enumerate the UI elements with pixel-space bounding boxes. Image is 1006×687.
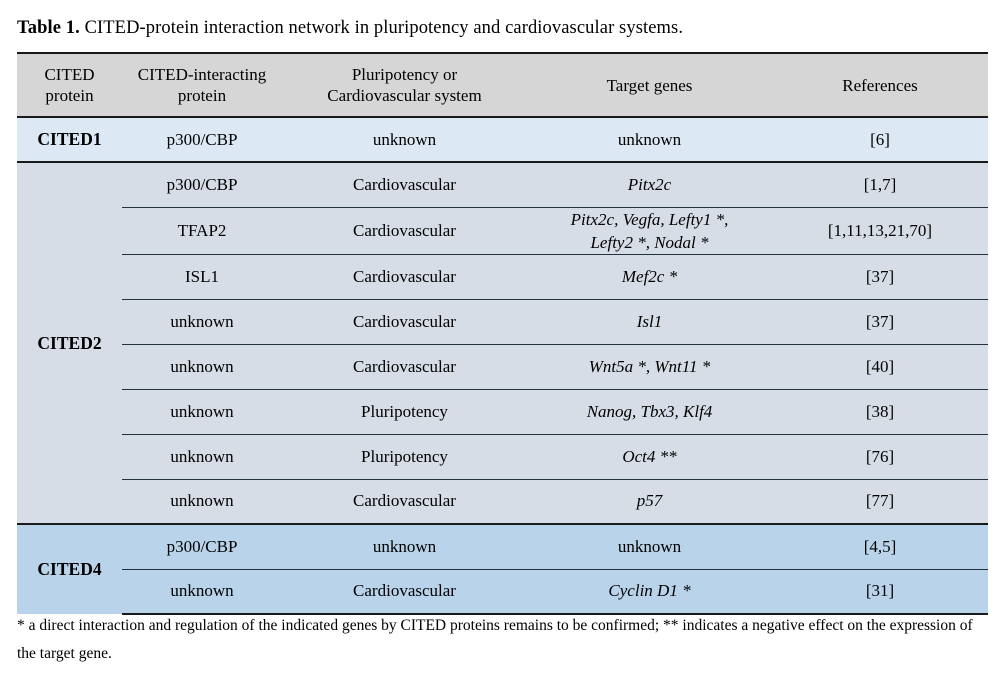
cell-references: [40] — [772, 344, 988, 389]
cell-interacting-protein: unknown — [122, 299, 282, 344]
header-line-1: Target genes — [607, 76, 693, 95]
table-header: CITED protein CITED-interacting protein … — [17, 53, 988, 117]
column-header-system: Pluripotency or Cardiovascular system — [282, 53, 527, 117]
cell-references: [37] — [772, 254, 988, 299]
cell-references: [1,11,13,21,70] — [772, 207, 988, 254]
target-genes-label: unknown — [618, 537, 681, 556]
cell-interacting-protein: p300/CBP — [122, 117, 282, 162]
column-header-references: References — [772, 53, 988, 117]
header-line-1: Pluripotency or — [352, 65, 457, 84]
table-body: CITED1p300/CBPunknownunknown[6]CITED2p30… — [17, 117, 988, 614]
cell-system: Cardiovascular — [282, 299, 527, 344]
cell-cited-protein: CITED2 — [17, 162, 122, 524]
protein-name-label: CITED2 — [37, 333, 101, 353]
table-row: unknownCardiovascularCyclin D1 *[31] — [17, 569, 988, 614]
table-row: TFAP2CardiovascularPitx2c, Vegfa, Lefty1… — [17, 207, 988, 254]
cell-target-genes: Oct4 ** — [527, 434, 772, 479]
table-row: unknownCardiovascularIsl1[37] — [17, 299, 988, 344]
table-row: ISL1CardiovascularMef2c *[37] — [17, 254, 988, 299]
cell-system: Cardiovascular — [282, 207, 527, 254]
target-genes-label: Oct4 ** — [622, 447, 676, 466]
table-row: unknownPluripotencyOct4 **[76] — [17, 434, 988, 479]
cell-system: Cardiovascular — [282, 254, 527, 299]
table-row: unknownCardiovascularp57[77] — [17, 479, 988, 524]
target-genes-label: Wnt5a *, Wnt11 * — [589, 357, 711, 376]
cell-interacting-protein: unknown — [122, 344, 282, 389]
cell-system: Cardiovascular — [282, 569, 527, 614]
target-genes-line-1: Pitx2c, Vegfa, Lefty1 *, — [527, 208, 772, 231]
header-line-1: References — [842, 76, 918, 95]
cell-system: Cardiovascular — [282, 344, 527, 389]
cell-references: [6] — [772, 117, 988, 162]
cell-system: Pluripotency — [282, 434, 527, 479]
table-container: CITED protein CITED-interacting protein … — [17, 52, 988, 615]
cell-target-genes: Nanog, Tbx3, Klf4 — [527, 389, 772, 434]
cell-target-genes: Pitx2c, Vegfa, Lefty1 *,Lefty2 *, Nodal … — [527, 207, 772, 254]
cell-references: [38] — [772, 389, 988, 434]
cell-references: [77] — [772, 479, 988, 524]
cell-target-genes: unknown — [527, 524, 772, 569]
caption-text: CITED-protein interaction network in plu… — [80, 18, 683, 38]
caption-label: Table 1. — [17, 18, 80, 38]
header-line-2: protein — [45, 86, 93, 105]
cell-interacting-protein: p300/CBP — [122, 162, 282, 207]
target-genes-label: Isl1 — [637, 312, 663, 331]
table-row: CITED1p300/CBPunknownunknown[6] — [17, 117, 988, 162]
cell-references: [31] — [772, 569, 988, 614]
cell-cited-protein: CITED4 — [17, 524, 122, 614]
cell-interacting-protein: TFAP2 — [122, 207, 282, 254]
cell-interacting-protein: unknown — [122, 389, 282, 434]
table-footnote: * a direct interaction and regulation of… — [17, 612, 988, 668]
cell-target-genes: Pitx2c — [527, 162, 772, 207]
cell-system: Cardiovascular — [282, 162, 527, 207]
header-row: CITED protein CITED-interacting protein … — [17, 53, 988, 117]
table-row: CITED2p300/CBPCardiovascularPitx2c[1,7] — [17, 162, 988, 207]
target-genes-label: unknown — [618, 130, 681, 149]
cell-interacting-protein: unknown — [122, 434, 282, 479]
column-header-cited-interacting-protein: CITED-interacting protein — [122, 53, 282, 117]
target-genes-label: Pitx2c — [628, 175, 671, 194]
cell-target-genes: Mef2c * — [527, 254, 772, 299]
cell-system: unknown — [282, 117, 527, 162]
header-line-2: protein — [178, 86, 226, 105]
target-genes-label: Mef2c * — [622, 267, 677, 286]
target-genes-label: p57 — [637, 491, 663, 510]
cell-target-genes: unknown — [527, 117, 772, 162]
cell-system: Pluripotency — [282, 389, 527, 434]
target-genes-line-2: Lefty2 *, Nodal * — [527, 231, 772, 254]
table-row: CITED4p300/CBPunknownunknown[4,5] — [17, 524, 988, 569]
cell-target-genes: p57 — [527, 479, 772, 524]
cell-target-genes: Wnt5a *, Wnt11 * — [527, 344, 772, 389]
table-row: unknownCardiovascularWnt5a *, Wnt11 *[40… — [17, 344, 988, 389]
column-header-target-genes: Target genes — [527, 53, 772, 117]
cell-interacting-protein: unknown — [122, 479, 282, 524]
cell-target-genes: Isl1 — [527, 299, 772, 344]
target-genes-label: Nanog, Tbx3, Klf4 — [587, 402, 713, 421]
target-genes-label: Cyclin D1 * — [608, 581, 690, 600]
cell-system: Cardiovascular — [282, 479, 527, 524]
cited-interaction-table: CITED protein CITED-interacting protein … — [17, 52, 988, 615]
table-caption: Table 1. CITED-protein interaction netwo… — [17, 16, 988, 40]
cell-interacting-protein: unknown — [122, 569, 282, 614]
cell-references: [1,7] — [772, 162, 988, 207]
column-header-cited-protein: CITED protein — [17, 53, 122, 117]
header-line-2: Cardiovascular system — [327, 86, 481, 105]
cell-target-genes: Cyclin D1 * — [527, 569, 772, 614]
cell-interacting-protein: ISL1 — [122, 254, 282, 299]
cell-references: [37] — [772, 299, 988, 344]
cell-cited-protein: CITED1 — [17, 117, 122, 162]
cell-interacting-protein: p300/CBP — [122, 524, 282, 569]
cell-references: [4,5] — [772, 524, 988, 569]
table-figure-page: Table 1. CITED-protein interaction netwo… — [0, 0, 1006, 687]
protein-name-label: CITED4 — [37, 559, 101, 579]
protein-name-label: CITED1 — [37, 129, 101, 149]
table-row: unknownPluripotencyNanog, Tbx3, Klf4[38] — [17, 389, 988, 434]
header-line-1: CITED-interacting — [138, 65, 266, 84]
cell-references: [76] — [772, 434, 988, 479]
header-line-1: CITED — [44, 65, 94, 84]
cell-system: unknown — [282, 524, 527, 569]
